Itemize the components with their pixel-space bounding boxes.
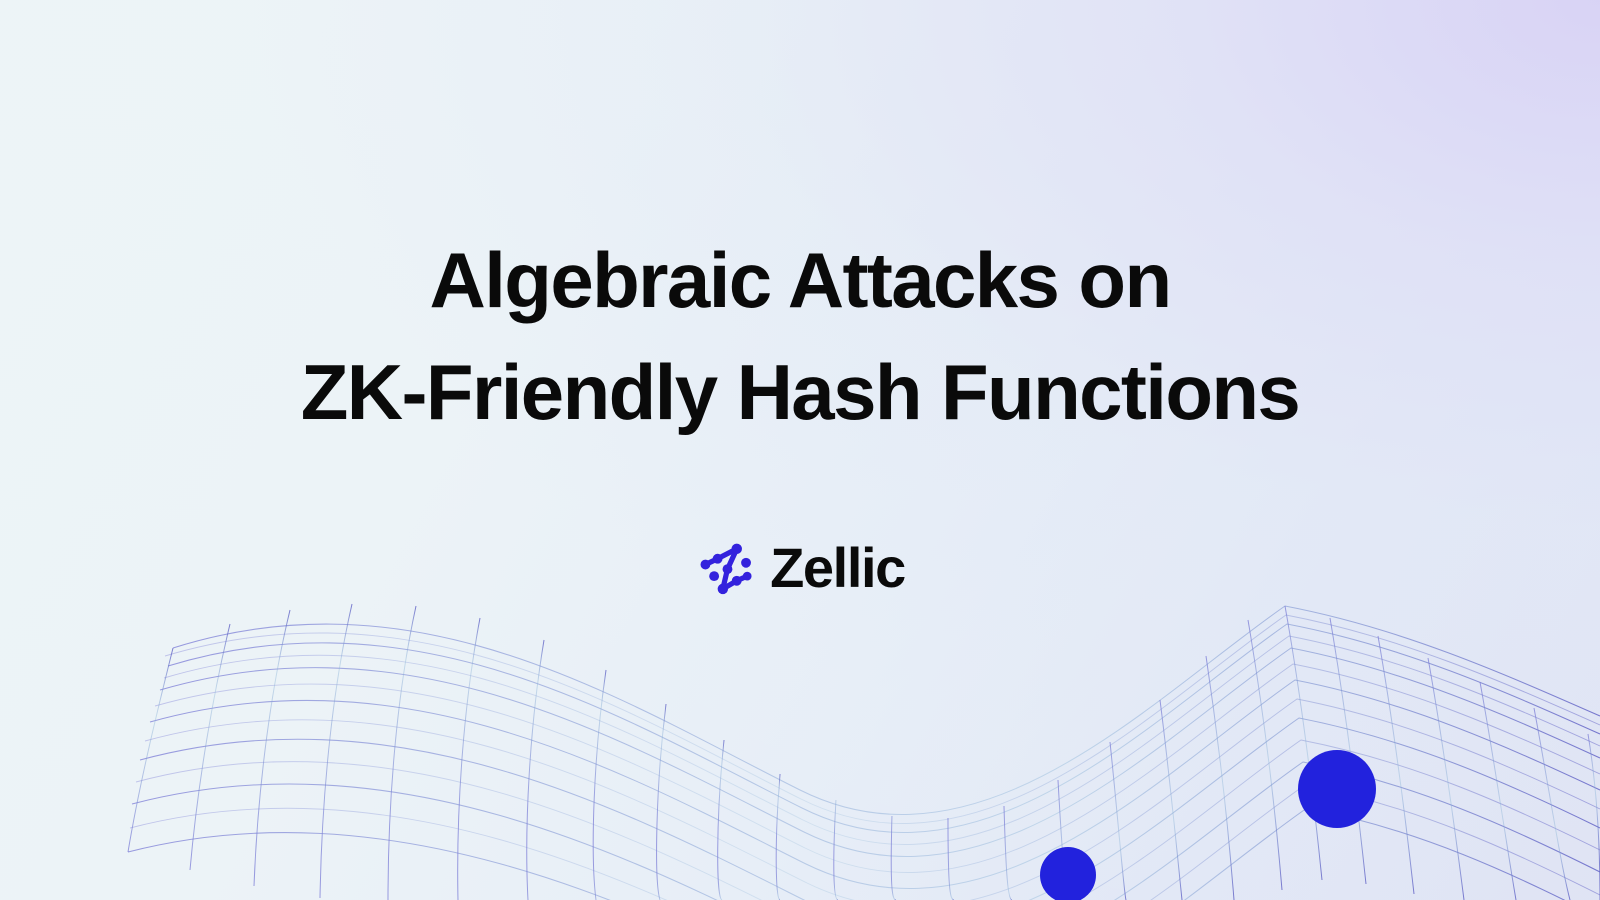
hero-content: Algebraic Attacks on ZK-Friendly Hash Fu… [0, 0, 1600, 900]
brand-wordmark: Zellic [770, 540, 905, 596]
page-title: Algebraic Attacks on ZK-Friendly Hash Fu… [100, 224, 1500, 449]
brand-logo-lockup: Zellic [695, 539, 905, 597]
page-title-line-2: ZK-Friendly Hash Functions [100, 336, 1500, 448]
hero-card: Algebraic Attacks on ZK-Friendly Hash Fu… [0, 0, 1600, 900]
zellic-node-graph-icon [695, 539, 753, 597]
page-title-line-1: Algebraic Attacks on [100, 224, 1500, 336]
